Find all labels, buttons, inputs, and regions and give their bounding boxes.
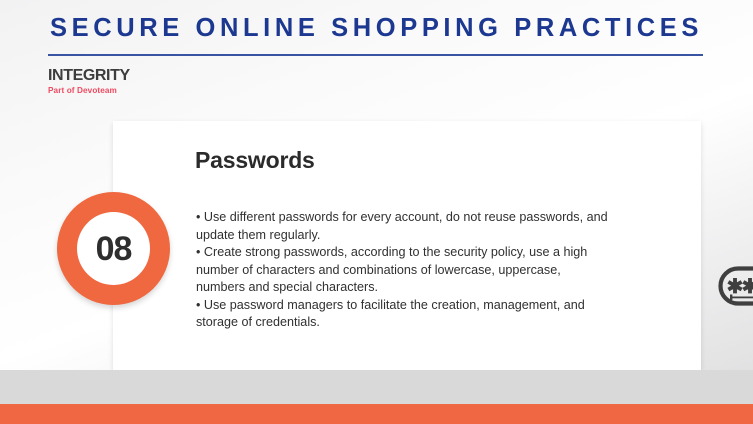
step-number-badge: 08 <box>57 192 170 305</box>
list-item: • Use password managers to facilitate th… <box>196 297 608 332</box>
badge-number: 08 <box>96 232 132 266</box>
badge-inner-circle: 08 <box>77 212 150 285</box>
page-title: SECURE ONLINE SHOPPING PRACTICES <box>48 14 705 43</box>
title-divider <box>48 54 703 56</box>
list-item: • Create strong passwords, according to … <box>196 244 608 297</box>
content-card: Passwords • Use different passwords for … <box>113 121 701 370</box>
brand-logo: INTEGRITY Part of Devoteam <box>48 68 130 95</box>
logo-name: INTEGRITY <box>48 68 130 84</box>
logo-tagline: Part of Devoteam <box>48 87 130 95</box>
bullet-list: • Use different passwords for every acco… <box>196 209 608 332</box>
footer-gray-bar <box>0 370 753 404</box>
card-heading: Passwords <box>195 147 315 174</box>
footer-orange-bar <box>0 404 753 424</box>
password-lock-icon: ✱ ✱ ✱ <box>718 266 753 324</box>
svg-text:✱: ✱ <box>742 276 753 298</box>
slide-root: SECURE ONLINE SHOPPING PRACTICES INTEGRI… <box>0 0 753 424</box>
list-item: • Use different passwords for every acco… <box>196 209 608 244</box>
